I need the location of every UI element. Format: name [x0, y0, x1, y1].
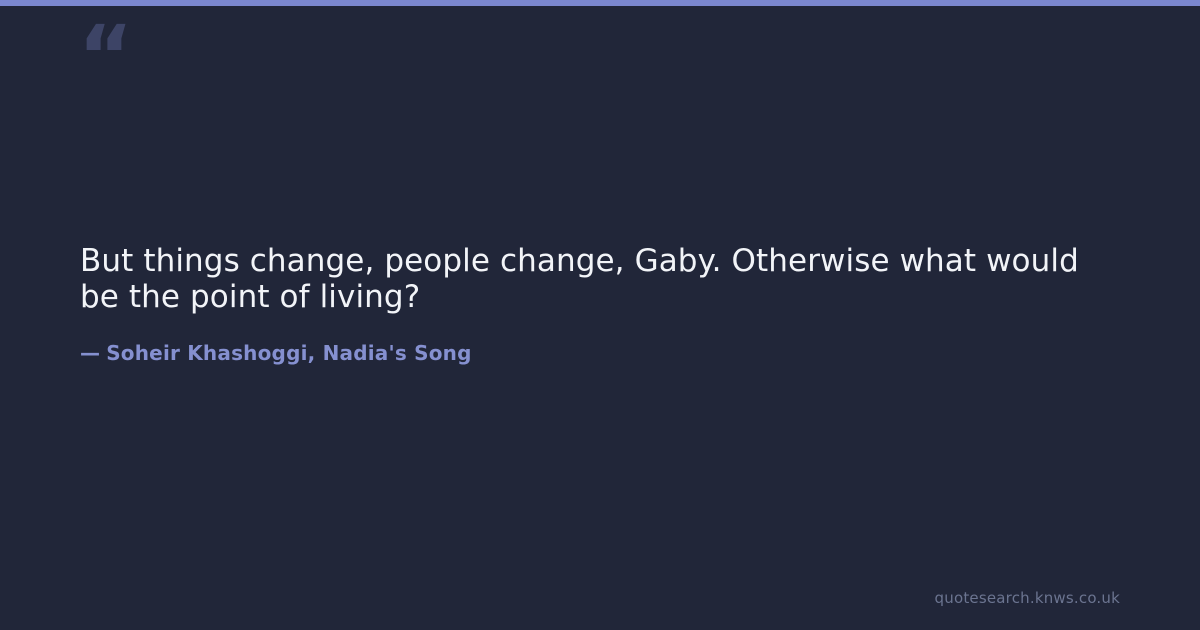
site-watermark: quotesearch.knws.co.uk: [935, 588, 1120, 608]
attribution-dash: —: [80, 341, 100, 365]
quote-text: But things change, people change, Gaby. …: [80, 243, 1120, 315]
quote-body: But things change, people change, Gaby. …: [80, 243, 1120, 315]
attribution-label: Soheir Khashoggi, Nadia's Song: [106, 341, 471, 365]
top-accent-bar: [0, 0, 1200, 6]
double-quote-icon: “: [78, 14, 131, 98]
quote-card: “ But things change, people change, Gaby…: [0, 0, 1200, 630]
attribution: —Soheir Khashoggi, Nadia's Song: [80, 339, 472, 367]
